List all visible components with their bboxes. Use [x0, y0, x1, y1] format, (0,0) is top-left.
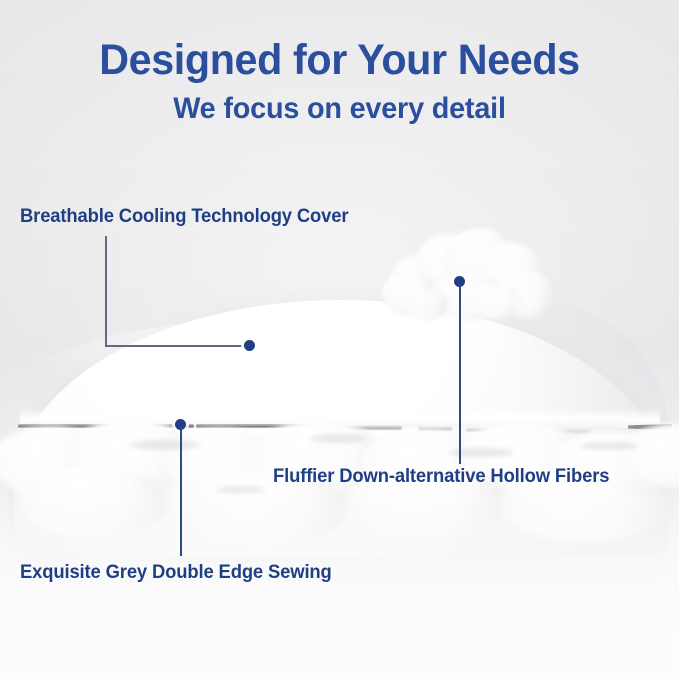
seam-segment: [466, 428, 488, 432]
seam-segment: [340, 426, 402, 430]
callout-label-fibers: Fluffier Down-alternative Hollow Fibers: [273, 466, 609, 488]
leader-line-cover-horizontal: [105, 345, 251, 347]
seam-soft-shadow: [520, 430, 590, 433]
leader-line-fibers: [459, 284, 461, 464]
callout-label-sewing: Exquisite Grey Double Edge Sewing: [20, 562, 332, 584]
page-subtitle: We focus on every detail: [14, 92, 666, 125]
seam-segment: [18, 424, 194, 428]
seam-segment: [196, 424, 311, 428]
infographic-canvas: Designed for Your Needs We focus on ever…: [0, 0, 679, 679]
leader-line-cover-vertical: [105, 236, 107, 346]
callout-dot-cover: [244, 340, 255, 351]
seam-segment: [418, 427, 452, 431]
page-title: Designed for Your Needs: [14, 38, 666, 84]
callout-label-cover: Breathable Cooling Technology Cover: [20, 206, 348, 228]
leader-line-sewing: [180, 428, 182, 556]
